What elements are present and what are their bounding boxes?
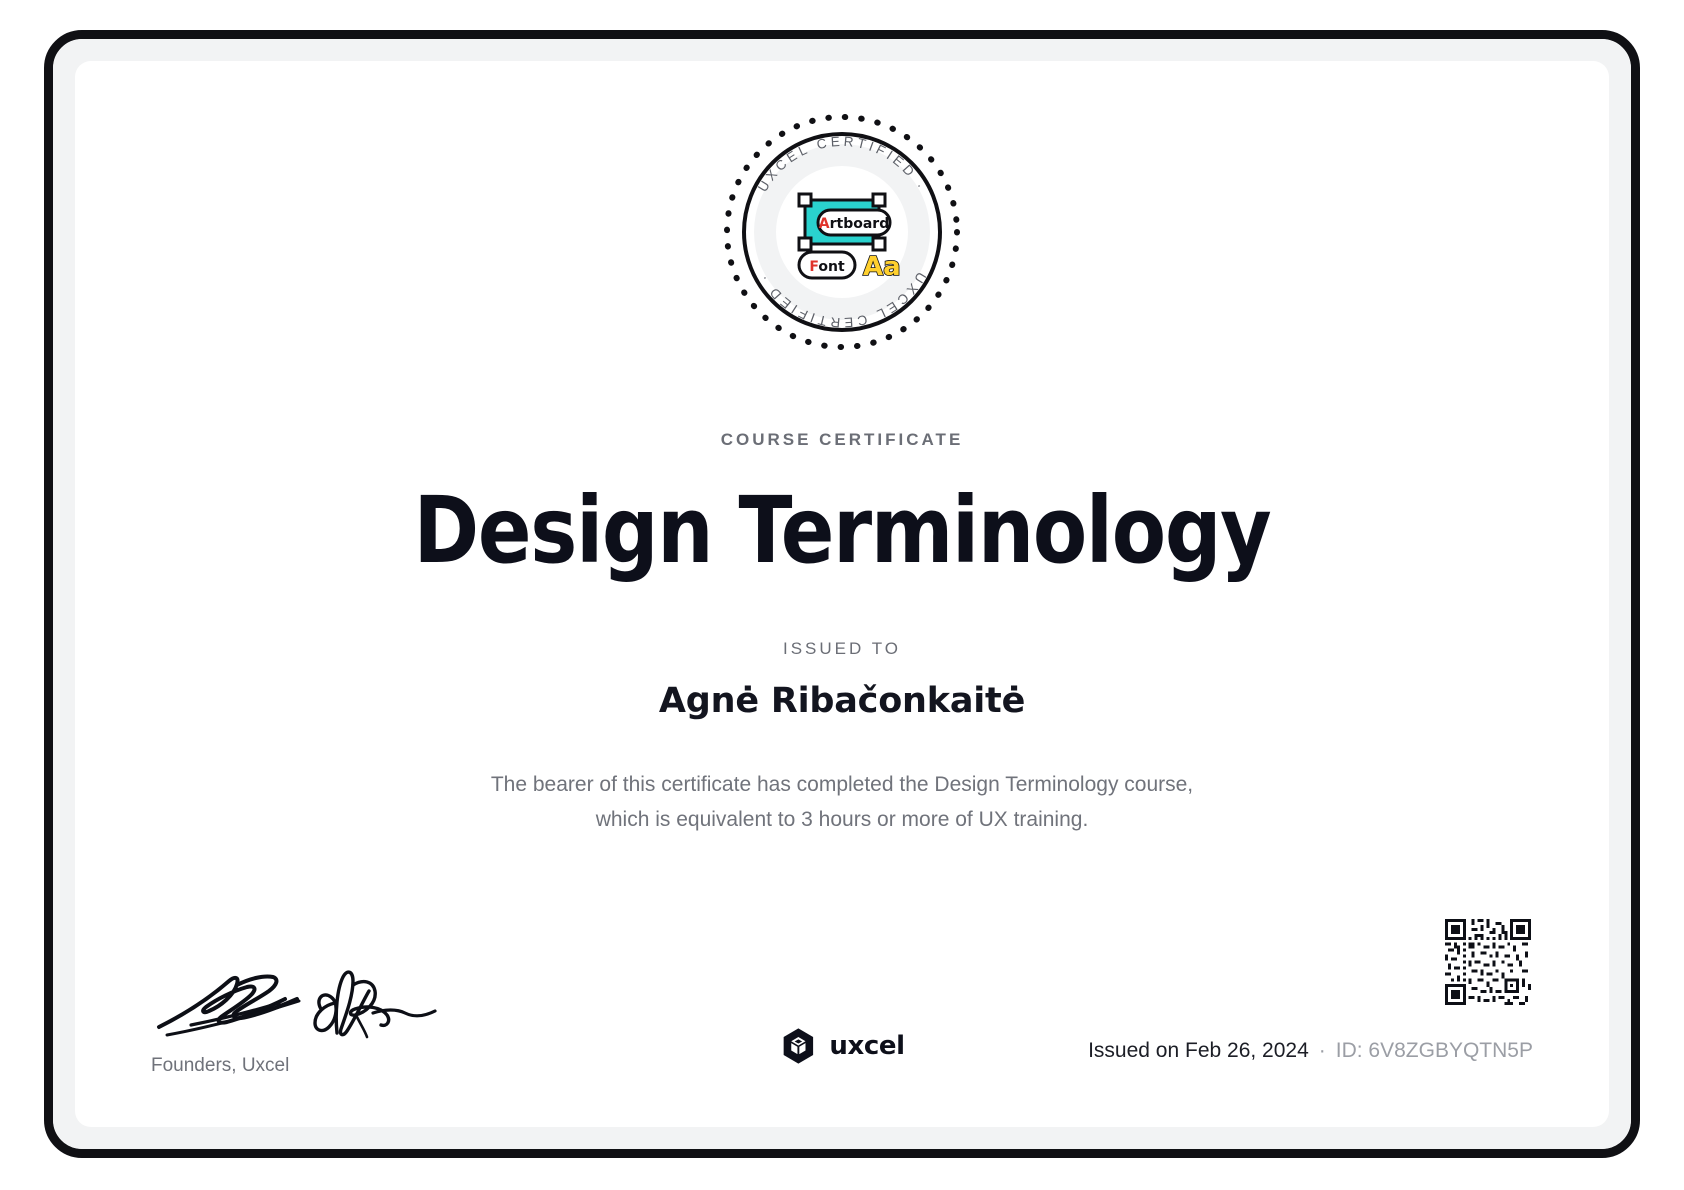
uxcel-wordmark: uxcel	[829, 1031, 904, 1061]
founders-signature-image	[151, 951, 451, 1041]
font-sample-glyphs: Aa	[863, 252, 901, 282]
founders-label: Founders, Uxcel	[151, 1055, 491, 1077]
issued-to-label: ISSUED TO	[75, 639, 1609, 659]
certificate-description: The bearer of this certificate has compl…	[75, 767, 1609, 837]
certificate-card: UXCEL CERTIFIED · UXCEL CERTIFIED ·	[75, 61, 1609, 1127]
certificate-meta: Issued on Feb 26, 2024 · ID: 6V8ZGBYQTN5…	[1088, 1039, 1533, 1063]
font-pill-label: Font	[809, 259, 845, 275]
course-certificate-kicker: COURSE CERTIFICATE	[75, 430, 1609, 450]
recipient-name: Agnė Ribačonkaitė	[75, 681, 1609, 721]
meta-separator: ·	[1319, 1039, 1326, 1063]
uxcel-hexagon-icon	[779, 1027, 817, 1065]
uxcel-logo: uxcel	[779, 1027, 904, 1065]
page-title: Design Terminology	[182, 481, 1501, 581]
artboard-pill-label: Artboard	[819, 216, 889, 232]
signature-block: Founders, Uxcel	[151, 951, 491, 1077]
uxcel-certified-badge: UXCEL CERTIFIED · UXCEL CERTIFIED ·	[717, 107, 967, 357]
issue-date: Issued on Feb 26, 2024	[1088, 1039, 1309, 1063]
qr-code[interactable]	[1445, 919, 1531, 1005]
certificate-id: ID: 6V8ZGBYQTN5P	[1336, 1039, 1533, 1063]
description-line-1: The bearer of this certificate has compl…	[75, 767, 1609, 802]
artboard-icon: Artboard	[799, 194, 890, 250]
description-line-2: which is equivalent to 3 hours or more o…	[75, 802, 1609, 837]
certificate-panel: UXCEL CERTIFIED · UXCEL CERTIFIED ·	[53, 39, 1631, 1149]
certificate-frame: UXCEL CERTIFIED · UXCEL CERTIFIED ·	[44, 30, 1640, 1158]
